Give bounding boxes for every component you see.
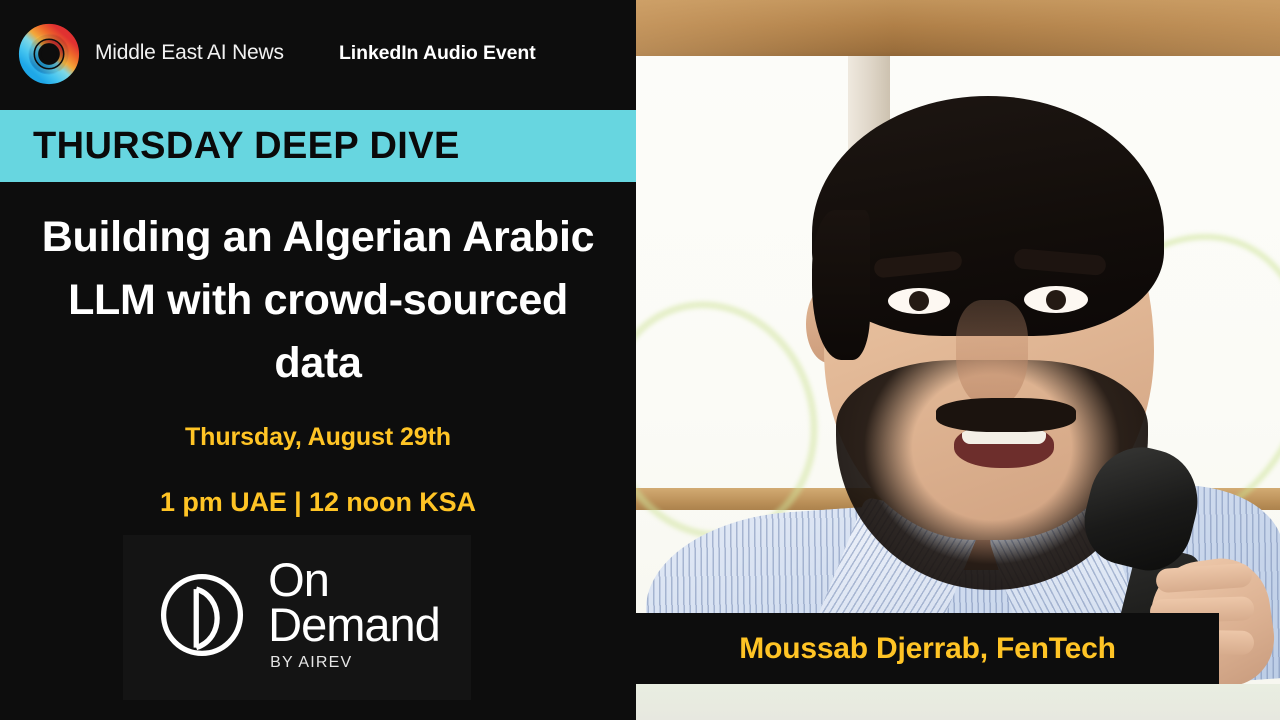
series-ribbon-label: THURSDAY DEEP DIVE	[33, 125, 460, 168]
talk-title: Building an Algerian Arabic LLM with cro…	[22, 206, 614, 396]
left-info-panel: Middle East AI News LinkedIn Audio Event…	[0, 0, 636, 720]
promo-graphic: Middle East AI News LinkedIn Audio Event…	[0, 0, 1280, 720]
speaker-name: Moussab Djerrab, FenTech	[636, 632, 1219, 666]
speaker-hair-side	[812, 210, 870, 360]
speaker-photo-pane: Moussab Djerrab, FenTech	[636, 0, 1280, 720]
speaker-nose	[956, 300, 1028, 408]
sponsor-lockup: On Demand BY AIREV	[123, 535, 471, 700]
sponsor-byline: BY AIREV	[270, 654, 440, 672]
speaker-photo	[636, 0, 1280, 686]
photo-bottom-strip	[636, 684, 1280, 720]
speaker-eye-left	[888, 288, 950, 314]
speaker-figure	[636, 0, 1280, 686]
series-ribbon: THURSDAY DEEP DIVE	[0, 110, 636, 182]
sponsor-name-line-2: Demand	[268, 602, 440, 647]
brand-header: Middle East AI News LinkedIn Audio Event	[0, 0, 636, 108]
ondemand-circle-mark-icon	[154, 567, 250, 663]
speaker-pupil	[1046, 290, 1066, 310]
event-date: Thursday, August 29th	[22, 423, 614, 452]
sponsor-name-line-1: On	[268, 557, 440, 602]
event-time: 1 pm UAE | 12 noon KSA	[22, 487, 614, 518]
event-kind-label: LinkedIn Audio Event	[339, 42, 536, 65]
speaker-pupil	[909, 291, 929, 311]
middle-east-ai-news-logo-icon	[18, 23, 80, 85]
speaker-eye-right	[1024, 286, 1088, 313]
brand-name: Middle East AI News	[95, 41, 284, 65]
speaker-mustache	[936, 398, 1076, 432]
speaker-name-bar: Moussab Djerrab, FenTech	[636, 613, 1219, 684]
